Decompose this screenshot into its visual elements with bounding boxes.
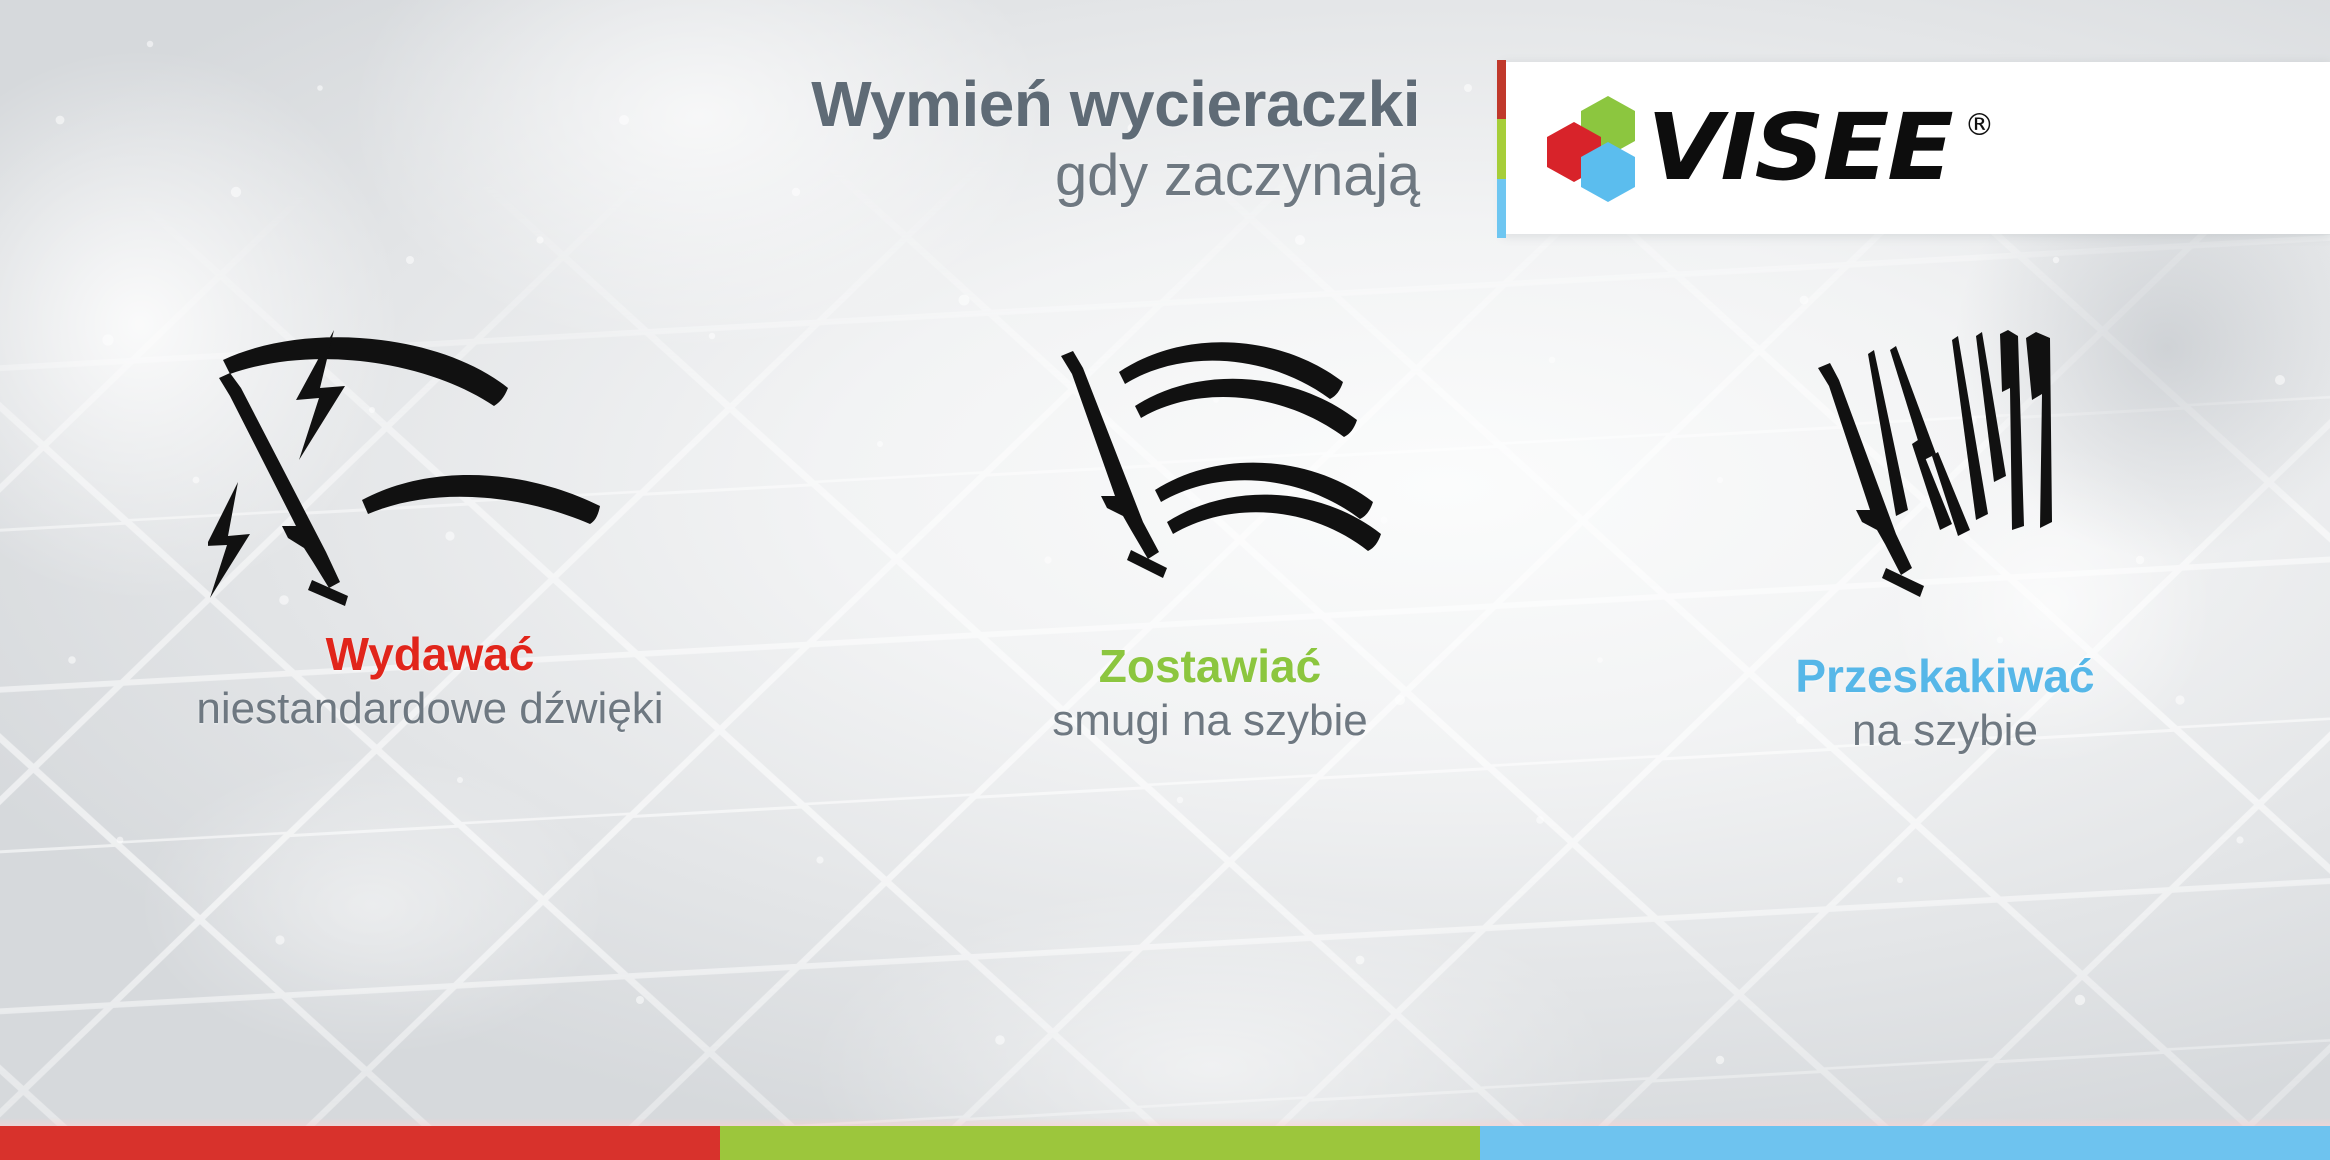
headline-block: Wymień wycieraczki gdy zaczynają (600, 72, 1420, 209)
brand-bar-blue (1497, 179, 1506, 238)
brand-color-bar (1497, 60, 1506, 238)
page-subtitle: gdy zaczynają (600, 144, 1420, 209)
footer-red-segment (0, 1126, 720, 1160)
symptom-title: Wydawać (0, 630, 860, 680)
symptom-caption-judder: Przeskakiwać na szybie (1560, 652, 2330, 755)
brand-logo-panel: VISEE ® (1503, 62, 2330, 234)
wiper-noise-icon (208, 330, 608, 620)
symptom-column-judder: Przeskakiwać na szybie (1560, 330, 2330, 1010)
symptom-column-streaks: Zostawiać smugi na szybie (860, 330, 1560, 1010)
symptom-column-noise: Wydawać niestandardowe dźwięki (0, 330, 860, 1010)
symptom-subtitle: niestandardowe dźwięki (0, 684, 860, 733)
symptom-title: Przeskakiwać (1560, 652, 2330, 702)
brand-bar-green (1497, 119, 1506, 178)
symptom-subtitle: smugi na szybie (860, 696, 1560, 745)
symptom-caption-streaks: Zostawiać smugi na szybie (860, 642, 1560, 745)
brand-wordmark: VISEE (1647, 102, 1952, 194)
symptom-title: Zostawiać (860, 642, 1560, 692)
wiper-streaks-icon (1055, 330, 1385, 610)
page-title: Wymień wycieraczki (600, 72, 1420, 136)
symptom-columns: Wydawać niestandardowe dźwięki (0, 330, 2330, 1010)
wiper-judder-icon (1812, 330, 2102, 620)
brand-bar-red (1497, 60, 1506, 119)
hexagon-logo-icon (1545, 96, 1653, 200)
footer-blue-segment (1480, 1126, 2330, 1160)
footer-color-bar (0, 1126, 2330, 1160)
symptom-caption-noise: Wydawać niestandardowe dźwięki (0, 630, 860, 733)
footer-green-segment (720, 1126, 1480, 1160)
registered-trademark-icon: ® (1964, 108, 1994, 143)
symptom-subtitle: na szybie (1560, 706, 2330, 755)
slide-canvas: Wymień wycieraczki gdy zaczynają VISEE ® (0, 0, 2330, 1160)
